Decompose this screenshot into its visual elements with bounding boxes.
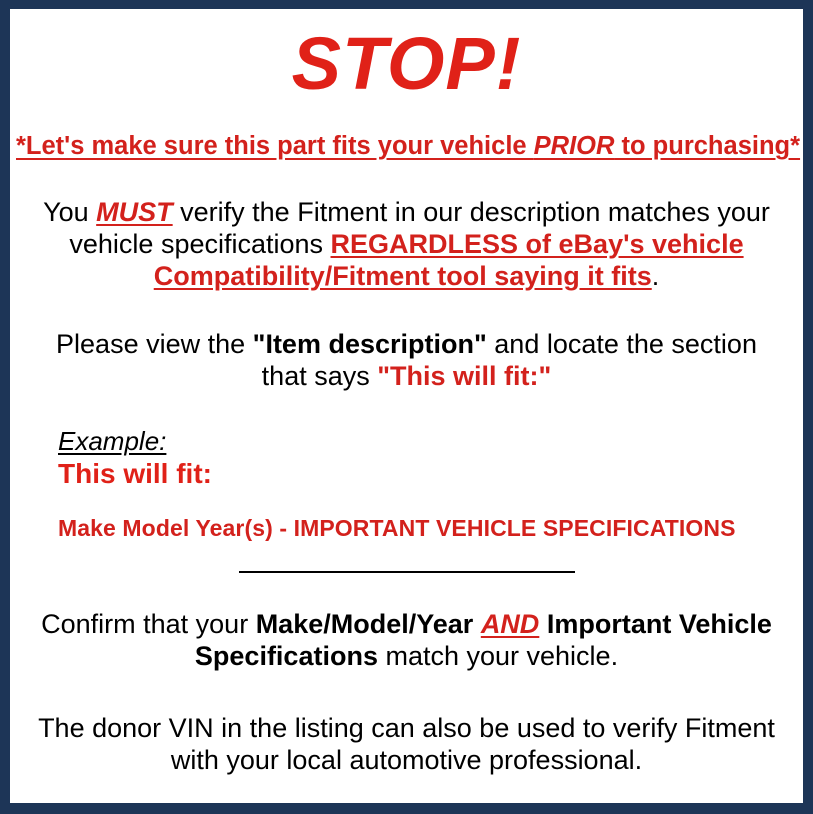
example-label: Example: [58, 427, 797, 456]
example-fit-heading: This will fit: [58, 458, 797, 490]
confirm-space-1 [473, 609, 481, 639]
item-description-paragraph: Please view the "Item description" and l… [16, 329, 797, 393]
must-part-3: . [652, 261, 660, 291]
and-emphasis: AND [481, 609, 540, 639]
notice-body: STOP! *Let's make sure this part fits yo… [10, 27, 803, 814]
subtitle-banner: *Let's make sure this part fits your veh… [16, 132, 797, 161]
closing-thank-you: Thank you for confirming Fitment! [16, 804, 797, 814]
item-desc-part-1: Please view the [56, 329, 253, 359]
divider-wrapper [16, 569, 797, 573]
subtitle-prefix: *Let's make sure this part fits your veh… [16, 132, 534, 160]
make-model-year-label: Make/Model/Year [256, 609, 474, 639]
confirm-paragraph: Confirm that your Make/Model/Year AND Im… [16, 609, 797, 673]
page-title: STOP! [16, 27, 797, 101]
subtitle-suffix: to purchasing* [614, 132, 800, 160]
this-will-fit-label: "This will fit:" [377, 361, 551, 391]
item-description-label: "Item description" [253, 329, 487, 359]
example-spec-line: Make Model Year(s) - IMPORTANT VEHICLE S… [58, 515, 797, 541]
donor-vin-paragraph: The donor VIN in the listing can also be… [16, 713, 797, 777]
confirm-space-2 [539, 609, 547, 639]
horizontal-rule [239, 571, 575, 573]
must-verify-paragraph: You MUST verify the Fitment in our descr… [16, 197, 797, 293]
must-emphasis: MUST [96, 197, 173, 227]
example-block: Example: This will fit: Make Model Year(… [16, 427, 797, 542]
fitment-notice-card: STOP! *Let's make sure this part fits yo… [0, 0, 813, 814]
subtitle-emphasis: PRIOR [534, 132, 615, 160]
confirm-part-1: Confirm that your [41, 609, 256, 639]
confirm-part-2: match your vehicle. [378, 641, 618, 671]
must-part-1: You [43, 197, 96, 227]
